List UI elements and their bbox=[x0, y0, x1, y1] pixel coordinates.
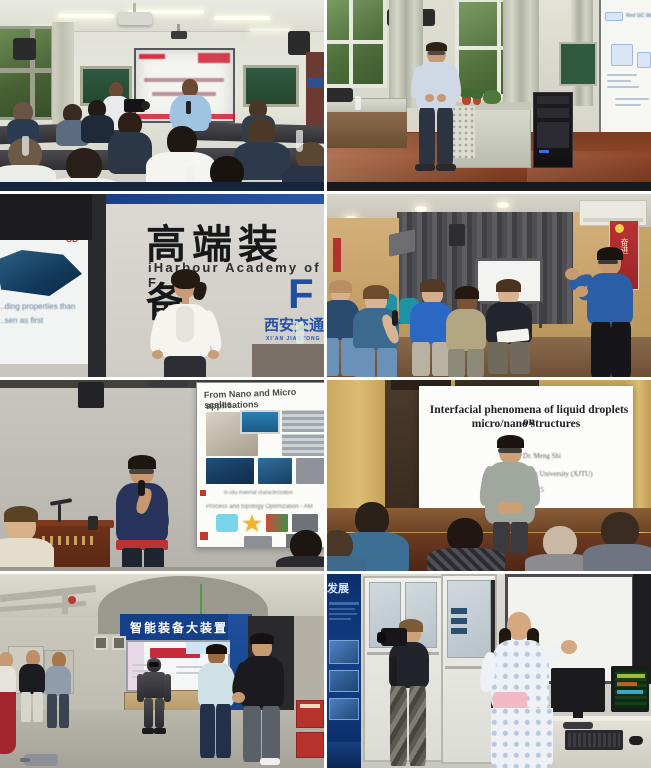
photo-cell-1[interactable] bbox=[0, 0, 324, 191]
interfacial-talk-scene: Interfacial phenomena of liquid droplets… bbox=[327, 380, 651, 571]
robot-demo-scene: 智能装备大装置中心 bbox=[0, 574, 324, 768]
slide-line-1: ...ding properties than bbox=[0, 302, 75, 311]
photo-cell-3[interactable]: 高端装备 iHarbour Academy of F F 西安交通 XI'AN … bbox=[0, 194, 324, 377]
photo-cell-5[interactable]: From Nano and Micro scales applications … bbox=[0, 380, 324, 571]
classroom-window-scene: Red SiC library bbox=[327, 0, 651, 191]
photo-collage: Red SiC library bbox=[0, 0, 651, 768]
slide-caption-2: Process and topology Optimization - AM bbox=[206, 504, 313, 510]
photo-cell-4[interactable]: 奋进 bbox=[327, 194, 651, 377]
slide-caption-1: in-situ material characterization bbox=[224, 490, 293, 496]
photo-cell-2[interactable]: Red SiC library bbox=[327, 0, 651, 191]
nano-micro-talk-scene: From Nano and Micro scales applications … bbox=[0, 380, 324, 571]
seminar-room-scene: 奋进 bbox=[327, 194, 651, 377]
photo-cell-8[interactable]: 发展 bbox=[327, 574, 651, 768]
poster-hanzi: 发展 bbox=[327, 580, 349, 596]
laboratory-scene: 发展 bbox=[327, 574, 651, 768]
university-latin: XI'AN JIAOTONG bbox=[266, 336, 321, 342]
university-hanzi: 西安交通 bbox=[264, 314, 324, 335]
iharbour-banner-scene: 高端装备 iHarbour Academy of F F 西安交通 XI'AN … bbox=[0, 194, 324, 377]
photo-cell-7[interactable]: 智能装备大装置中心 bbox=[0, 574, 324, 768]
lecture-hall-scene bbox=[0, 0, 324, 191]
photo-cell-6[interactable]: Interfacial phenomena of liquid droplets… bbox=[327, 380, 651, 571]
slide-title-line-2: micro/nano structures bbox=[423, 418, 629, 430]
banner-letter-f: F bbox=[288, 270, 314, 318]
humanoid-robot bbox=[136, 658, 172, 736]
slide-line-2: ...sen as first bbox=[0, 316, 43, 325]
